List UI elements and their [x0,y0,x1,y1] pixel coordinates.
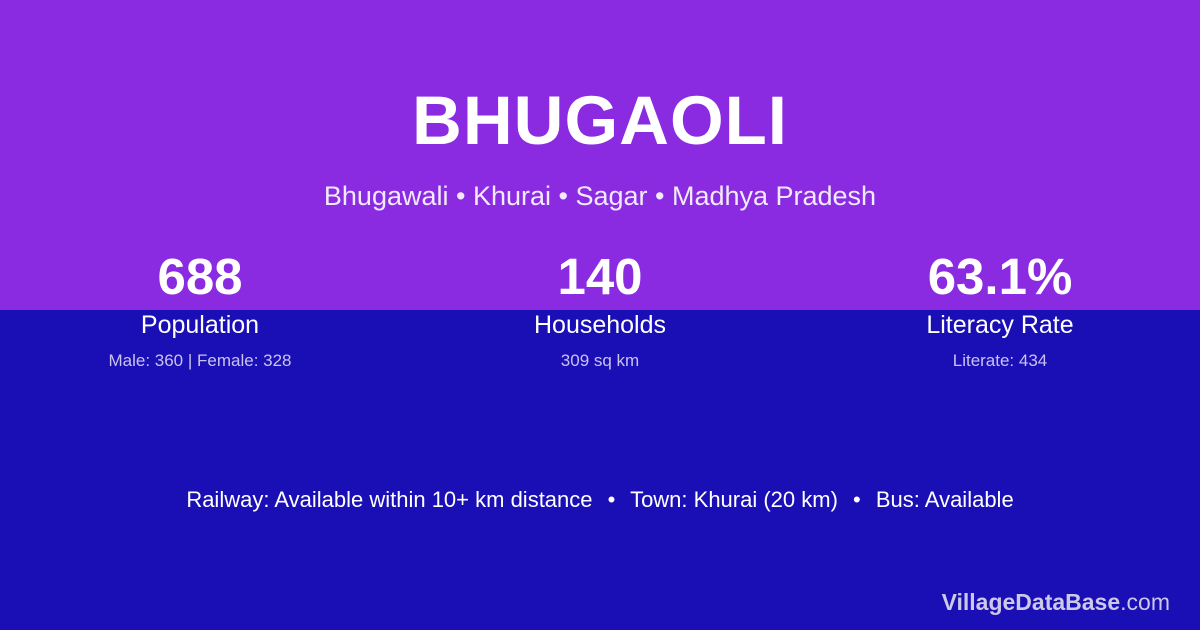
stat-value: 140 [400,248,800,307]
facility-railway: Railway: Available within 10+ km distanc… [186,487,592,512]
stat-households: 140 Households 309 sq km [400,248,800,372]
stat-sublabel: 309 sq km [400,350,800,372]
stats-row: 688 Population Male: 360 | Female: 328 1… [0,248,1200,372]
brand-tld: .com [1120,589,1170,615]
stat-value: 688 [0,248,400,307]
facility-bus: Bus: Available [876,487,1014,512]
stat-label: Households [400,309,800,342]
stat-sublabel: Literate: 434 [800,350,1200,372]
stat-label: Literacy Rate [800,309,1200,342]
page-title: BHUGAOLI [0,86,1200,155]
stat-value: 63.1% [800,248,1200,307]
stat-sublabel: Male: 360 | Female: 328 [0,350,400,372]
brand-name: VillageDataBase [942,589,1121,615]
site-watermark: VillageDataBase.com [942,588,1170,618]
bullet-separator-icon: • [599,487,625,512]
village-info-card: BHUGAOLI Bhugawali • Khurai • Sagar • Ma… [0,0,1200,630]
facility-town: Town: Khurai (20 km) [630,487,838,512]
bullet-separator-icon: • [844,487,870,512]
stat-literacy-rate: 63.1% Literacy Rate Literate: 434 [800,248,1200,372]
stat-label: Population [0,309,400,342]
facilities-line: Railway: Available within 10+ km distanc… [0,486,1200,515]
stat-population: 688 Population Male: 360 | Female: 328 [0,248,400,372]
location-breadcrumb: Bhugawali • Khurai • Sagar • Madhya Prad… [0,183,1200,210]
